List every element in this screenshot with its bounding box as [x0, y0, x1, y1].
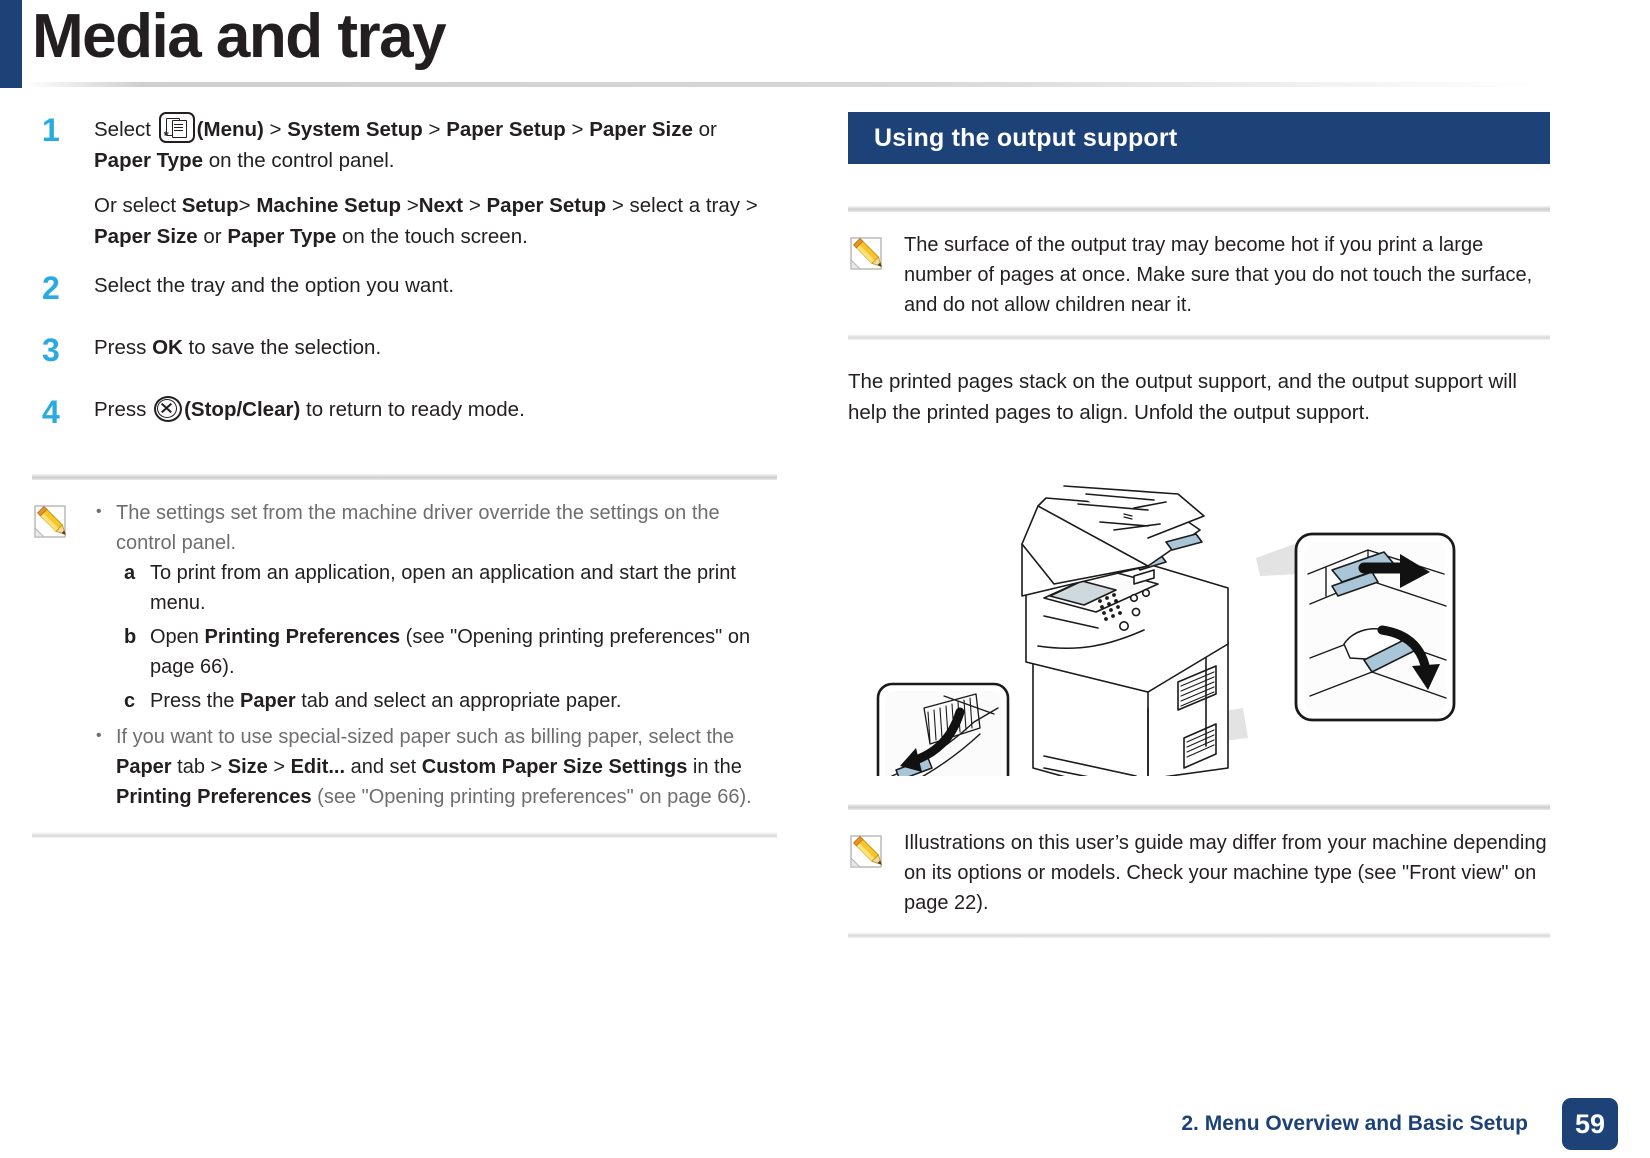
step-3: 3 Press OK to save the selection.: [32, 332, 777, 372]
note-right-top-text: The surface of the output tray may becom…: [904, 230, 1550, 320]
note-pencil-icon: [848, 230, 904, 320]
note-pencil-icon: [848, 828, 904, 918]
step-1-sep-1: >: [264, 118, 287, 141]
step-3-ok: OK: [152, 336, 183, 359]
note-sub-c: cPress the Paper tab and select an appro…: [116, 686, 777, 716]
step-1b-sep-3: >: [463, 194, 486, 217]
step-1-system-setup: System Setup: [287, 118, 423, 141]
step-1b-paper-size: Paper Size: [94, 225, 198, 248]
step-1b-next: Next: [419, 194, 463, 217]
note-bullet-1-text: The settings set from the machine driver…: [116, 502, 720, 554]
menu-icon-sheet-front: [172, 120, 187, 138]
note-text-left: The settings set from the machine driver…: [88, 498, 777, 818]
step-1-line-1: Select *(Menu) > System Setup > Paper Se…: [94, 112, 777, 176]
title-divider: [22, 82, 1534, 87]
note-bullet-1: The settings set from the machine driver…: [88, 498, 777, 716]
step-4-stopclear: (Stop/Clear): [184, 398, 300, 421]
note-pencil-icon: [32, 498, 88, 818]
step-1-menu-label: (Menu): [197, 118, 264, 141]
note-sub-c-pre: Press the: [150, 690, 240, 712]
step-2-text: Select the tray and the option you want.: [94, 270, 777, 301]
page-footer: 2. Menu Overview and Basic Setup 59: [0, 1088, 1650, 1158]
note-bullet-2-c: tab >: [172, 756, 228, 778]
note-sub-c-bold: Paper: [240, 690, 296, 712]
note-bullet-2-size: Size: [228, 756, 268, 778]
note-box-right-top: The surface of the output tray may becom…: [848, 206, 1550, 340]
step-1-number: 1: [42, 114, 72, 146]
note-bullet-2-a: If you want to use special-sized paper s…: [116, 726, 734, 748]
section-heading-label: Using the output support: [848, 124, 1177, 153]
printer-output-support-illustration: [848, 446, 1550, 776]
note-bullet-2-paper: Paper: [116, 756, 172, 778]
note-bullet-list: The settings set from the machine driver…: [88, 498, 777, 812]
step-2-number: 2: [42, 272, 72, 304]
header-accent-bar: [0, 0, 22, 88]
note-bullet-2-g: and set: [345, 756, 422, 778]
right-column: Using the output support The surf: [848, 112, 1550, 938]
step-1-or: or: [693, 118, 717, 141]
step-4-post: to return to ready mode.: [300, 398, 524, 421]
note-right-bottom-text: Illustrations on this user’s guide may d…: [904, 828, 1550, 918]
note-bullet-2: If you want to use special-sized paper s…: [88, 722, 777, 812]
step-1b-paper-type: Paper Type: [227, 225, 336, 248]
step-1-line-2: Or select Setup> Machine Setup >Next > P…: [94, 190, 777, 252]
note-right-bottom-content: Illustrations on this user’s guide may d…: [848, 810, 1550, 932]
note-box-left: The settings set from the machine driver…: [32, 474, 777, 838]
step-1-tail: on the control panel.: [203, 149, 394, 172]
note-bullet-2-custom: Custom Paper Size Settings: [422, 756, 688, 778]
step-3-text: Press OK to save the selection.: [94, 332, 777, 363]
menu-icon-line-3: [174, 130, 183, 131]
note-bullet-2-printing-prefs: Printing Preferences: [116, 786, 312, 808]
step-1b-lead: Or select: [94, 194, 182, 217]
step-3-pre: Press: [94, 336, 152, 359]
step-4-number: 4: [42, 396, 72, 428]
note-right-top-content: The surface of the output tray may becom…: [848, 212, 1550, 334]
stop-clear-icon: [154, 396, 182, 422]
left-column: 1 Select *(Menu) > System Setup > Paper …: [32, 112, 777, 838]
step-3-post: to save the selection.: [183, 336, 381, 359]
note-sub-a-text: To print from an application, open an ap…: [150, 562, 736, 614]
menu-icon-line-2: [174, 127, 183, 128]
step-1-lead: Select: [94, 118, 157, 141]
note-sub-a: aTo print from an application, open an a…: [116, 558, 777, 618]
step-1b-tail: on the touch screen.: [336, 225, 527, 248]
output-support-paragraph: The printed pages stack on the output su…: [848, 366, 1550, 428]
menu-icon: *: [159, 112, 195, 143]
step-1-sep-3: >: [566, 118, 589, 141]
step-4: 4 Press (Stop/Clear) to return to ready …: [32, 394, 777, 434]
note-sub-b-bold: Printing Preferences: [204, 626, 400, 648]
menu-icon-asterisk: *: [164, 131, 169, 141]
step-2-body: Select the tray and the option you want.: [94, 270, 777, 301]
section-heading-bar: Using the output support: [848, 112, 1550, 164]
note-sub-list: aTo print from an application, open an a…: [116, 558, 777, 716]
note-bullet-2-edit: Edit...: [291, 756, 345, 778]
page-number-badge: 59: [1562, 1098, 1618, 1150]
step-4-text: Press (Stop/Clear) to return to ready mo…: [94, 394, 777, 425]
page-title: Media and tray: [32, 0, 445, 76]
note-right-bottom-bottom-rule: [848, 932, 1550, 938]
step-3-number: 3: [42, 334, 72, 366]
step-1b-machine-setup: Machine Setup: [256, 194, 401, 217]
step-1b-sep-4: > select a tray >: [606, 194, 758, 217]
step-3-body: Press OK to save the selection.: [94, 332, 777, 363]
step-1b-sep-1: >: [239, 194, 257, 217]
note-sub-b: bOpen Printing Preferences (see "Opening…: [116, 622, 777, 682]
step-1b-setup: Setup: [182, 194, 239, 217]
menu-icon-line-1: [174, 124, 183, 125]
step-4-body: Press (Stop/Clear) to return to ready mo…: [94, 394, 777, 425]
note-box-right-bottom: Illustrations on this user’s guide may d…: [848, 804, 1550, 938]
step-1-body: Select *(Menu) > System Setup > Paper Se…: [94, 112, 777, 252]
step-2: 2 Select the tray and the option you wan…: [32, 270, 777, 310]
step-4-pre: Press: [94, 398, 152, 421]
note-sub-c-letter: c: [124, 686, 135, 716]
note-right-top-bottom-rule: [848, 334, 1550, 340]
note-bullet-2-e: >: [268, 756, 291, 778]
step-1-paper-size: Paper Size: [589, 118, 693, 141]
note-content: The settings set from the machine driver…: [32, 480, 777, 832]
note-bullet-2-k: (see "Opening printing preferences" on p…: [312, 786, 752, 808]
step-1b-sep-2: >: [401, 194, 419, 217]
step-1b-paper-setup: Paper Setup: [487, 194, 607, 217]
footer-chapter-label: 2. Menu Overview and Basic Setup: [1181, 1112, 1528, 1136]
note-sub-b-pre: Open: [150, 626, 204, 648]
step-1-sep-2: >: [423, 118, 446, 141]
step-1: 1 Select *(Menu) > System Setup > Paper …: [32, 112, 777, 252]
note-sub-b-letter: b: [124, 622, 136, 652]
note-sub-a-letter: a: [124, 558, 135, 588]
step-1-paper-type: Paper Type: [94, 149, 203, 172]
step-1b-or: or: [198, 225, 228, 248]
note-sub-c-post: tab and select an appropriate paper.: [296, 690, 622, 712]
page-header: Media and tray: [0, 0, 1650, 92]
note-bullet-2-i: in the: [687, 756, 741, 778]
step-1-paper-setup: Paper Setup: [446, 118, 566, 141]
note-bottom-rule: [32, 832, 777, 838]
